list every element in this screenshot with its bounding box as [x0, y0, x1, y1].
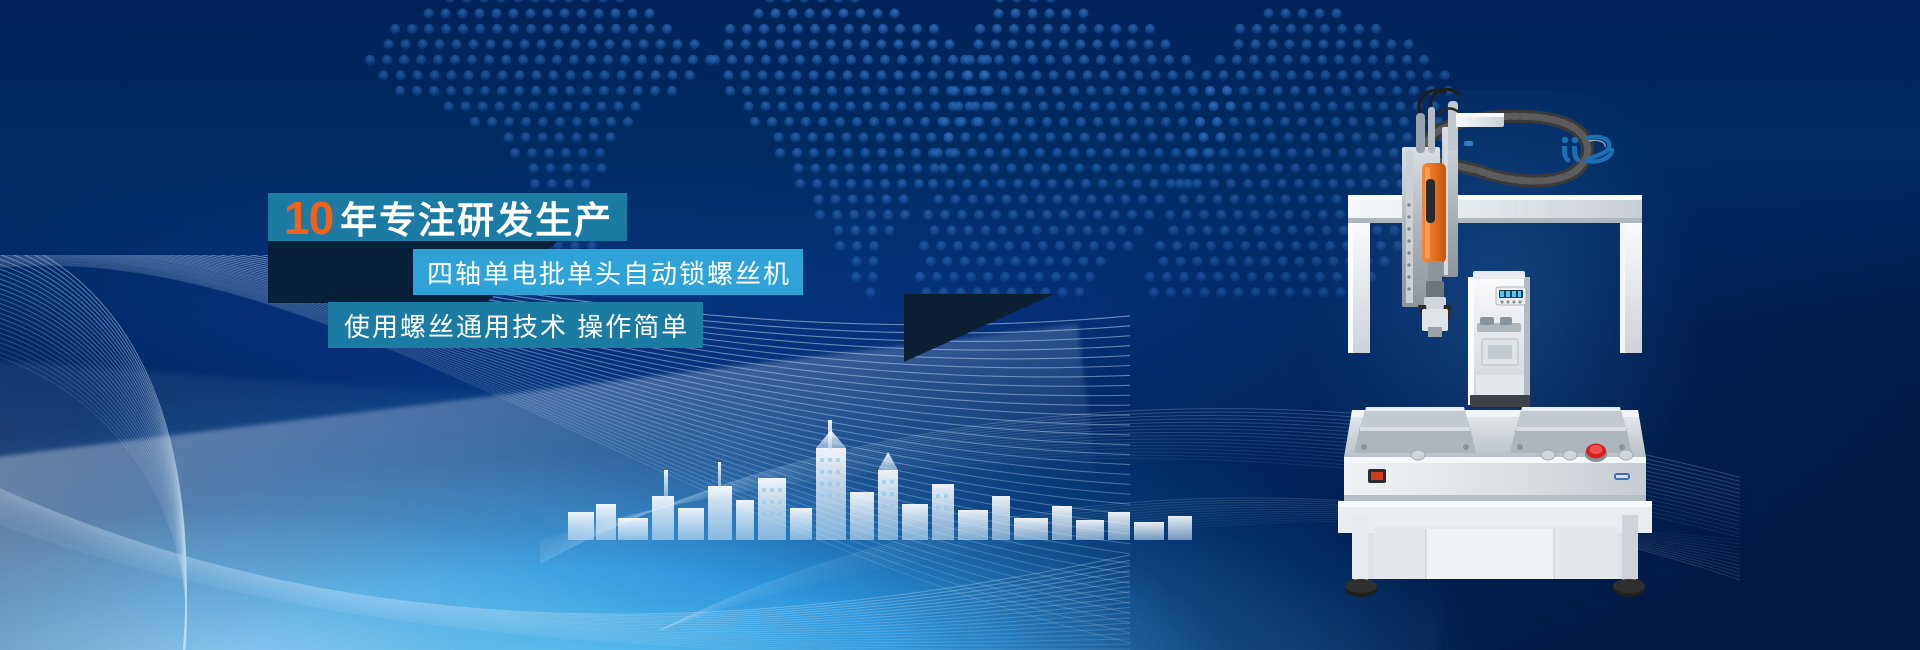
headline-line-1-text: 年专注研发生产 — [340, 190, 613, 244]
headline-line-1: 10 年专注研发生产 — [268, 193, 627, 241]
headline-line-3: 使用螺丝通用技术 操作简单 — [328, 302, 703, 348]
headline-line-2: 四轴单电批单头自动锁螺丝机 — [413, 249, 803, 295]
dark-arrow-wedge — [904, 294, 1054, 362]
years-number: 10 — [284, 195, 333, 241]
promo-banner: 10 年专注研发生产 四轴单电批单头自动锁螺丝机 使用螺丝通用技术 操作简单 — [0, 0, 1920, 650]
headline-group: 10 年专注研发生产 四轴单电批单头自动锁螺丝机 使用螺丝通用技术 操作简单 — [0, 0, 1920, 650]
